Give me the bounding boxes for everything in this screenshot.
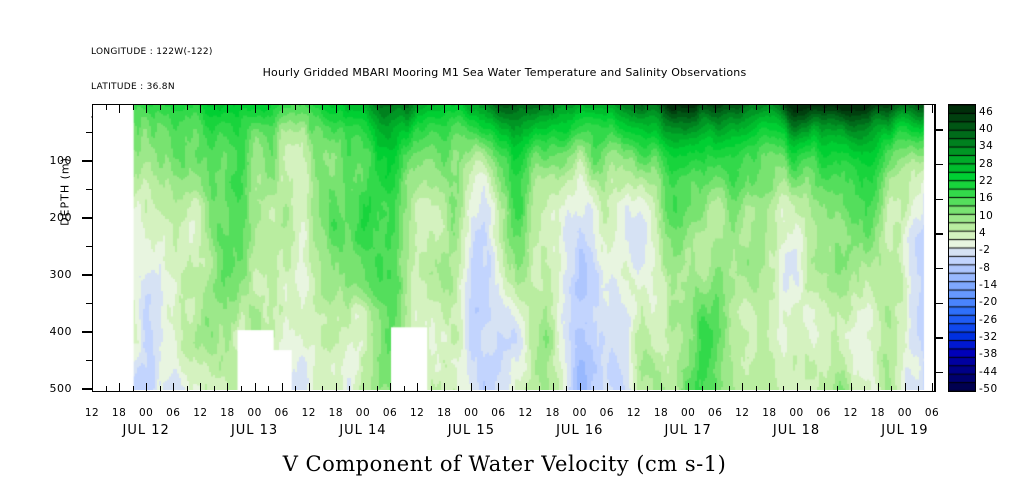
x-axis-day-label: JUL 19 (860, 423, 950, 438)
x-axis-tick-minor (349, 386, 350, 392)
x-axis-tick-major (769, 104, 770, 113)
x-axis-tick-minor (675, 386, 676, 392)
x-axis-tick-minor (241, 104, 242, 110)
x-axis-tick-major (498, 104, 499, 113)
x-axis-tick-minor (349, 104, 350, 110)
x-axis-tick-major (715, 383, 716, 392)
colorbar-tick-label: 10 (979, 210, 993, 222)
x-axis-tick-major (769, 383, 770, 392)
x-axis-tick-minor (404, 104, 405, 110)
colorbar-tick (934, 199, 943, 201)
y-axis-tick-minor (86, 132, 92, 134)
x-axis-tick-minor (810, 386, 811, 392)
y-axis-tick-minor (86, 360, 92, 362)
colorbar-tick-label: 22 (979, 175, 993, 187)
x-axis-tick-minor (295, 386, 296, 392)
colorbar-tick (934, 129, 943, 131)
x-axis-tick-minor (268, 386, 269, 392)
x-axis-day-label: JUL 18 (752, 423, 842, 438)
x-axis-tick-minor (864, 386, 865, 392)
x-axis-tick-minor (756, 104, 757, 110)
x-axis-tick-minor (322, 104, 323, 110)
x-axis-tick-major (146, 383, 147, 392)
x-axis-tick-minor (918, 104, 919, 110)
colorbar-tick-label: 4 (979, 227, 986, 239)
x-axis-tick-major (200, 104, 201, 113)
x-axis-tick-minor (187, 104, 188, 110)
x-axis-tick-major (905, 383, 906, 392)
x-axis-tick-major (309, 104, 310, 113)
x-axis-tick-major (661, 104, 662, 113)
colorbar-tick-label: -26 (979, 314, 998, 326)
y-axis-tick-major (82, 160, 92, 162)
x-axis-tick-major (336, 383, 337, 392)
x-axis-tick-minor (539, 104, 540, 110)
x-axis-tick-minor (864, 104, 865, 110)
x-axis-tick-minor (620, 386, 621, 392)
x-axis-tick-minor (512, 386, 513, 392)
x-axis-tick-minor (702, 386, 703, 392)
figure-caption: V Component of Water Velocity (cm s-1) (0, 452, 1009, 476)
x-axis-tick-minor (485, 104, 486, 110)
y-axis-tick-major (82, 274, 92, 276)
x-axis-tick-major (227, 104, 228, 113)
x-axis-tick-minor (539, 386, 540, 392)
colorbar-tick-label: -44 (979, 366, 998, 378)
x-axis-day-label: JUL 13 (210, 423, 300, 438)
x-axis-tick-minor (160, 386, 161, 392)
x-axis-tick-minor (431, 104, 432, 110)
colorbar-tick (934, 337, 943, 339)
x-axis-tick-major (797, 104, 798, 113)
x-axis-tick-major (553, 383, 554, 392)
velocity-heatmap (93, 105, 933, 390)
x-axis-tick-major (553, 104, 554, 113)
x-axis-tick-minor (566, 386, 567, 392)
x-axis-tick-major (282, 383, 283, 392)
x-axis-tick-major (200, 383, 201, 392)
y-axis-tick-minor (86, 303, 92, 305)
colorbar-tick-label: 16 (979, 192, 993, 204)
x-axis-tick-minor (322, 386, 323, 392)
x-axis-tick-major (336, 104, 337, 113)
x-axis-tick-minor (377, 104, 378, 110)
x-axis-tick-major (471, 383, 472, 392)
x-axis-tick-major (119, 383, 120, 392)
x-axis-hour-label: 06 (915, 407, 949, 419)
y-axis-tick-minor (86, 189, 92, 191)
x-axis-tick-major (607, 104, 608, 113)
x-axis-tick-minor (729, 386, 730, 392)
x-axis-tick-major (92, 104, 93, 113)
x-axis-tick-minor (512, 104, 513, 110)
x-axis-tick-minor (377, 386, 378, 392)
x-axis-tick-major (498, 383, 499, 392)
x-axis-tick-minor (756, 386, 757, 392)
y-axis-tick-major (82, 388, 92, 390)
colorbar-tick-label: -2 (979, 244, 990, 256)
y-axis-tick-label: 100 (12, 154, 72, 167)
x-axis-tick-minor (783, 104, 784, 110)
x-axis-tick-major (932, 383, 933, 392)
x-axis-tick-minor (214, 386, 215, 392)
x-axis-tick-major (634, 104, 635, 113)
colorbar-tick-label: 46 (979, 106, 993, 118)
x-axis-tick-major (282, 104, 283, 113)
x-axis-tick-major (119, 104, 120, 113)
x-axis-tick-minor (702, 104, 703, 110)
x-axis-day-label: JUL 16 (535, 423, 625, 438)
y-axis-label: DEPTH (m) (59, 122, 72, 262)
x-axis-tick-major (173, 104, 174, 113)
colorbar-tick-label: -50 (979, 383, 998, 395)
colorbar-tick (934, 233, 943, 235)
x-axis-tick-major (309, 383, 310, 392)
colorbar-tick-label: 28 (979, 158, 993, 170)
x-axis-tick-minor (485, 386, 486, 392)
x-axis-tick-major (444, 383, 445, 392)
x-axis-tick-major (932, 104, 933, 113)
x-axis-tick-minor (647, 104, 648, 110)
colorbar (948, 104, 976, 392)
x-axis-tick-minor (133, 104, 134, 110)
x-axis-tick-major (526, 383, 527, 392)
x-axis-tick-minor (783, 386, 784, 392)
x-axis-tick-major (634, 383, 635, 392)
x-axis-tick-major (688, 104, 689, 113)
x-axis-tick-major (851, 104, 852, 113)
x-axis-tick-major (878, 104, 879, 113)
plot-area (92, 104, 935, 392)
x-axis-tick-minor (891, 386, 892, 392)
x-axis-tick-major (417, 104, 418, 113)
x-axis-tick-major (526, 104, 527, 113)
x-axis-tick-minor (458, 104, 459, 110)
x-axis-tick-major (471, 104, 472, 113)
x-axis-tick-major (255, 104, 256, 113)
x-axis-tick-major (255, 383, 256, 392)
x-axis-tick-minor (106, 386, 107, 392)
x-axis-tick-minor (593, 104, 594, 110)
x-axis-tick-major (661, 383, 662, 392)
colorbar-tick (934, 164, 943, 166)
x-axis-tick-minor (160, 104, 161, 110)
x-axis-tick-major (688, 383, 689, 392)
x-axis-day-label: JUL 14 (318, 423, 408, 438)
x-axis-tick-minor (295, 104, 296, 110)
y-axis-tick-label: 500 (12, 382, 72, 395)
x-axis-tick-minor (729, 104, 730, 110)
x-axis-tick-major (227, 383, 228, 392)
x-axis-tick-minor (133, 386, 134, 392)
colorbar-tick-label: -20 (979, 296, 998, 308)
x-axis-tick-major (390, 383, 391, 392)
y-axis-tick-major (82, 331, 92, 333)
x-axis-tick-minor (241, 386, 242, 392)
colorbar-tick-label: -38 (979, 348, 998, 360)
x-axis-tick-major (797, 383, 798, 392)
x-axis-tick-minor (187, 386, 188, 392)
x-axis-tick-minor (106, 104, 107, 110)
x-axis-tick-major (715, 104, 716, 113)
x-axis-tick-major (363, 104, 364, 113)
x-axis-tick-major (742, 383, 743, 392)
colorbar-axis-line (934, 104, 936, 392)
y-axis-tick-label: 200 (12, 211, 72, 224)
chart-title: Hourly Gridded MBARI Mooring M1 Sea Wate… (0, 66, 1009, 79)
colorbar-tick (934, 268, 943, 270)
x-axis-tick-minor (620, 104, 621, 110)
x-axis-tick-major (742, 104, 743, 113)
metadata-latitude: LATITUDE : 36.8N (91, 82, 213, 94)
colorbar-tick-label: -32 (979, 331, 998, 343)
colorbar-tick (934, 372, 943, 374)
x-axis-tick-minor (214, 104, 215, 110)
x-axis-tick-minor (404, 386, 405, 392)
x-axis-tick-minor (918, 386, 919, 392)
x-axis-tick-minor (675, 104, 676, 110)
x-axis-tick-minor (810, 104, 811, 110)
x-axis-day-label: JUL 17 (643, 423, 733, 438)
x-axis-tick-major (390, 104, 391, 113)
y-axis-tick-label: 300 (12, 268, 72, 281)
x-axis-tick-major (92, 383, 93, 392)
colorbar-tick-label: 34 (979, 140, 993, 152)
x-axis-tick-major (851, 383, 852, 392)
x-axis-tick-minor (431, 386, 432, 392)
colorbar-tick-label: -8 (979, 262, 990, 274)
colorbar-tick (934, 303, 943, 305)
x-axis-tick-major (824, 383, 825, 392)
colorbar-tick-label: -14 (979, 279, 998, 291)
x-axis-tick-major (146, 104, 147, 113)
x-axis-tick-major (444, 104, 445, 113)
y-axis-tick-minor (86, 246, 92, 248)
x-axis-tick-minor (891, 104, 892, 110)
x-axis-day-label: JUL 15 (426, 423, 516, 438)
metadata-longitude: LONGITUDE : 122W(-122) (91, 47, 213, 59)
x-axis-tick-minor (458, 386, 459, 392)
y-axis-tick-major (82, 217, 92, 219)
x-axis-tick-major (905, 104, 906, 113)
y-axis-tick-label: 400 (12, 325, 72, 338)
x-axis-tick-major (417, 383, 418, 392)
x-axis-tick-minor (837, 104, 838, 110)
x-axis-tick-minor (593, 386, 594, 392)
x-axis-tick-major (173, 383, 174, 392)
x-axis-tick-major (580, 104, 581, 113)
x-axis-day-label: JUL 12 (101, 423, 191, 438)
x-axis-tick-major (878, 383, 879, 392)
x-axis-tick-minor (647, 386, 648, 392)
x-axis-tick-major (824, 104, 825, 113)
colorbar-tick-label: 40 (979, 123, 993, 135)
x-axis-tick-minor (566, 104, 567, 110)
x-axis-tick-minor (837, 386, 838, 392)
x-axis-tick-major (607, 383, 608, 392)
x-axis-tick-major (363, 383, 364, 392)
x-axis-tick-major (580, 383, 581, 392)
x-axis-tick-minor (268, 104, 269, 110)
